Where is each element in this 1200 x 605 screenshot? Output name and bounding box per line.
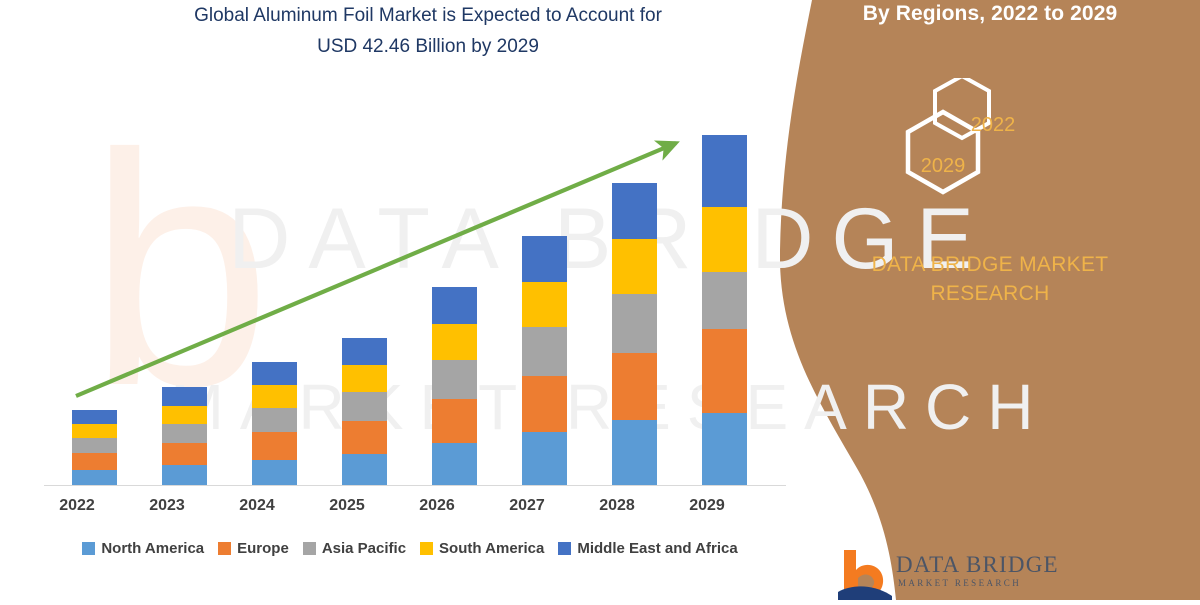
bar-segment-2026-4: [432, 287, 477, 324]
x-axis-label-2027: 2027: [482, 497, 572, 515]
brand-panel: By Regions, 2022 to 2029 2029 2022 DATA …: [780, 0, 1200, 600]
dbmr-logo-subtext: MARKET RESEARCH: [898, 578, 1021, 588]
x-axis-label-2023: 2023: [122, 497, 212, 515]
x-axis-label-2025: 2025: [302, 497, 392, 515]
bar-segment-2022-0: [72, 470, 117, 486]
legend-label: Europe: [237, 540, 289, 557]
bar-segment-2027-3: [522, 282, 567, 327]
bar-segment-2028-0: [612, 420, 657, 486]
legend-label: Asia Pacific: [322, 540, 406, 557]
legend-label: South America: [439, 540, 544, 557]
bar-segment-2026-1: [432, 399, 477, 443]
x-axis-line: [44, 485, 786, 486]
bar-segment-2024-1: [252, 432, 297, 460]
dbmr-logo: DATA BRIDGE MARKET RESEARCH: [838, 548, 1088, 600]
bar-segment-2022-4: [72, 410, 117, 424]
bar-segment-2028-3: [612, 239, 657, 294]
bar-2026: [432, 287, 477, 486]
bar-segment-2024-4: [252, 362, 297, 385]
bar-2028: [612, 183, 657, 486]
bar-segment-2023-0: [162, 465, 207, 486]
bar-segment-2025-0: [342, 454, 387, 486]
chart-legend: North AmericaEuropeAsia PacificSouth Ame…: [0, 540, 820, 557]
legend-item-0[interactable]: North America: [82, 540, 204, 557]
x-axis-label-2029: 2029: [662, 497, 752, 515]
bar-segment-2025-4: [342, 338, 387, 365]
legend-item-2[interactable]: Asia Pacific: [303, 540, 406, 557]
bar-segment-2027-4: [522, 236, 567, 282]
infographic-root: b DATA BRIDGE MARKET RESEARCH Global Alu…: [0, 0, 1200, 600]
bar-segment-2029-2: [702, 272, 747, 329]
panel-title: By Regions, 2022 to 2029: [780, 2, 1200, 26]
bar-segment-2023-4: [162, 387, 207, 406]
x-axis-label-2022: 2022: [32, 497, 122, 515]
bar-segment-2025-3: [342, 365, 387, 392]
hexagon-group: 2029 2022: [780, 78, 1200, 228]
x-axis-label-2024: 2024: [212, 497, 302, 515]
bar-2022: [72, 410, 117, 486]
bar-2024: [252, 362, 297, 486]
chart-title-line-2: USD 42.46 Billion by 2029: [317, 36, 539, 57]
legend-label: Middle East and Africa: [577, 540, 737, 557]
dbmr-logo-mark: [838, 548, 894, 600]
bar-plot: [40, 100, 790, 486]
bar-segment-2027-0: [522, 432, 567, 486]
bar-segment-2024-2: [252, 408, 297, 432]
legend-swatch-icon: [218, 542, 231, 555]
bar-segment-2026-0: [432, 443, 477, 486]
bar-2029: [702, 135, 747, 486]
bar-segment-2026-3: [432, 324, 477, 360]
brand-name-line-1: DATA BRIDGE MARKET: [872, 253, 1109, 276]
x-axis-label-2028: 2028: [572, 497, 662, 515]
bar-segment-2022-3: [72, 424, 117, 438]
bar-segment-2023-2: [162, 424, 207, 443]
brand-name: DATA BRIDGE MARKET RESEARCH: [780, 250, 1200, 308]
bar-segment-2028-1: [612, 353, 657, 420]
bar-2025: [342, 338, 387, 486]
bar-segment-2026-2: [432, 360, 477, 399]
legend-swatch-icon: [558, 542, 571, 555]
bar-2023: [162, 387, 207, 486]
chart-title-line-1: Global Aluminum Foil Market is Expected …: [194, 5, 662, 26]
chart-area: Global Aluminum Foil Market is Expected …: [0, 0, 830, 600]
bar-segment-2027-2: [522, 327, 567, 376]
bar-segment-2028-2: [612, 294, 657, 353]
bar-segment-2022-1: [72, 453, 117, 470]
bar-segment-2024-0: [252, 460, 297, 486]
legend-swatch-icon: [303, 542, 316, 555]
bar-segment-2025-2: [342, 392, 387, 421]
bar-segment-2029-1: [702, 329, 747, 413]
bar-segment-2022-2: [72, 438, 117, 453]
legend-label: North America: [101, 540, 204, 557]
legend-swatch-icon: [82, 542, 95, 555]
bar-segment-2025-1: [342, 421, 387, 454]
bar-segment-2023-1: [162, 443, 207, 465]
bar-segment-2027-1: [522, 376, 567, 432]
bar-segment-2029-4: [702, 135, 747, 207]
x-axis-label-2026: 2026: [392, 497, 482, 515]
bar-segment-2024-3: [252, 385, 297, 408]
legend-item-1[interactable]: Europe: [218, 540, 289, 557]
bar-segment-2029-0: [702, 413, 747, 486]
bar-segment-2028-4: [612, 183, 657, 239]
bar-segment-2023-3: [162, 406, 207, 424]
chart-title: Global Aluminum Foil Market is Expected …: [78, 0, 778, 62]
bar-2027: [522, 236, 567, 486]
dbmr-logo-text: DATA BRIDGE: [896, 552, 1059, 578]
legend-swatch-icon: [420, 542, 433, 555]
bar-segment-2029-3: [702, 207, 747, 272]
legend-item-4[interactable]: Middle East and Africa: [558, 540, 737, 557]
hexagon-2029-label: 2029: [918, 155, 968, 178]
legend-item-3[interactable]: South America: [420, 540, 544, 557]
hexagon-2022-label: 2022: [968, 114, 1018, 137]
brand-name-line-2: RESEARCH: [930, 282, 1049, 305]
